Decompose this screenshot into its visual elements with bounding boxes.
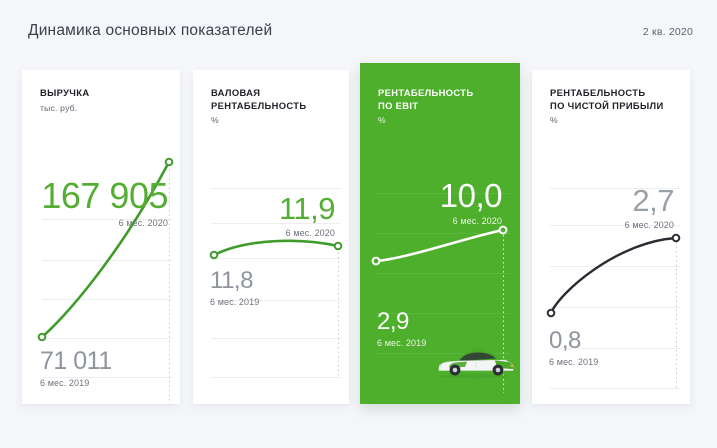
card-title: ВАЛОВАЯ РЕНТАБЕЛЬНОСТЬ — [211, 87, 339, 112]
value-current: 167 905 6 мес. 2020 — [41, 178, 168, 228]
kpi-card-grid: ВЫРУЧКА тыс. руб. 167 905 6 мес. 2020 71… — [0, 0, 717, 448]
value-previous: 11,8 6 мес. 2019 — [210, 269, 259, 307]
value-current: 11,9 6 мес. 2020 — [279, 193, 335, 238]
card-title: РЕНТАБЕЛЬНОСТЬ ПО EBIT — [378, 87, 510, 112]
card-heading: РЕНТАБЕЛЬНОСТЬ ПО ЧИСТОЙ ПРИБЫЛИ % — [550, 87, 680, 125]
value-current-number: 2,7 — [625, 185, 674, 216]
value-previous-number: 71 011 — [40, 349, 112, 374]
dashboard-root: Динамика основных показателей 2 кв. 2020 — [0, 0, 717, 448]
value-current-label: 6 мес. 2020 — [625, 220, 674, 230]
value-previous: 2,9 6 мес. 2019 — [377, 310, 426, 348]
value-current: 2,7 6 мес. 2020 — [625, 185, 674, 230]
value-previous-label: 6 мес. 2019 — [210, 297, 259, 307]
card-unit: % — [211, 115, 339, 125]
kpi-card-net-margin[interactable]: РЕНТАБЕЛЬНОСТЬ ПО ЧИСТОЙ ПРИБЫЛИ % 2,7 6… — [532, 70, 690, 404]
value-previous: 71 011 6 мес. 2019 — [40, 349, 112, 388]
card-title: РЕНТАБЕЛЬНОСТЬ ПО ЧИСТОЙ ПРИБЫЛИ — [550, 87, 680, 112]
value-current-number: 11,9 — [279, 193, 335, 224]
value-current-label: 6 мес. 2020 — [279, 228, 335, 238]
card-title: ВЫРУЧКА — [40, 87, 170, 100]
value-previous-number: 11,8 — [210, 269, 259, 293]
value-current: 10,0 6 мес. 2020 — [440, 179, 502, 226]
value-previous-label: 6 мес. 2019 — [377, 338, 426, 348]
card-heading: ВЫРУЧКА тыс. руб. — [40, 87, 170, 113]
value-previous-label: 6 мес. 2019 — [549, 357, 598, 367]
value-previous-number: 0,8 — [549, 329, 598, 353]
value-current-label: 6 мес. 2020 — [41, 218, 168, 228]
value-previous: 0,8 6 мес. 2019 — [549, 329, 598, 367]
card-unit: % — [550, 115, 680, 125]
value-current-label: 6 мес. 2020 — [440, 216, 502, 226]
value-previous-number: 2,9 — [377, 310, 426, 334]
card-unit: % — [378, 115, 510, 125]
value-previous-label: 6 мес. 2019 — [40, 378, 112, 388]
card-heading: РЕНТАБЕЛЬНОСТЬ ПО EBIT % — [378, 87, 510, 125]
kpi-card-gross-margin[interactable]: ВАЛОВАЯ РЕНТАБЕЛЬНОСТЬ % 11,9 6 мес. 202… — [193, 70, 349, 404]
card-unit: тыс. руб. — [40, 103, 170, 113]
value-current-number: 167 905 — [41, 178, 168, 214]
value-current-number: 10,0 — [440, 179, 502, 212]
kpi-card-ebit-margin[interactable]: РЕНТАБЕЛЬНОСТЬ ПО EBIT % 10,0 6 мес. 202… — [360, 63, 520, 404]
car-icon — [435, 346, 515, 380]
kpi-card-revenue[interactable]: ВЫРУЧКА тыс. руб. 167 905 6 мес. 2020 71… — [22, 70, 180, 404]
card-heading: ВАЛОВАЯ РЕНТАБЕЛЬНОСТЬ % — [211, 87, 339, 125]
